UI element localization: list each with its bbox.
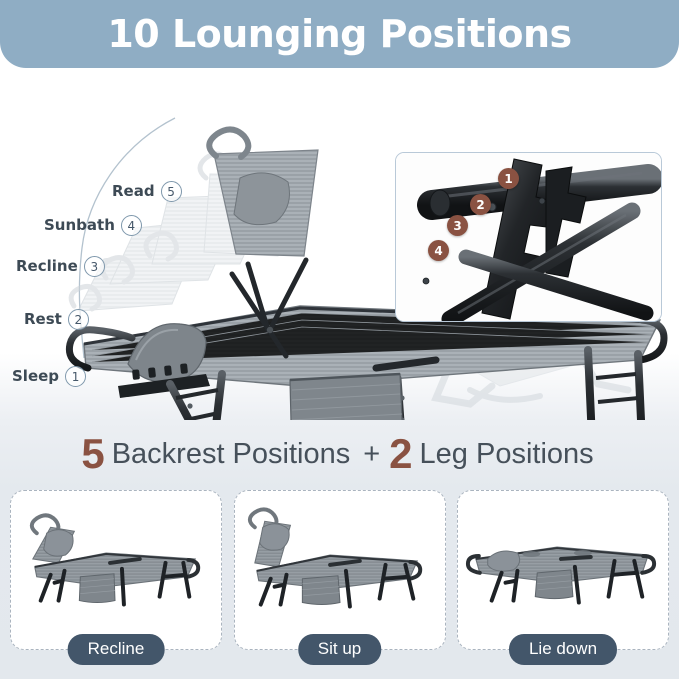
lie-down-illustration xyxy=(458,497,668,612)
sit-up-illustration xyxy=(235,497,445,612)
detail-badge-4: 4 xyxy=(428,240,449,261)
header-banner: 10 Lounging Positions xyxy=(0,0,679,68)
leg-label: Leg Positions xyxy=(420,440,594,469)
position-card-recline[interactable]: Recline xyxy=(10,490,222,650)
position-number-badge: 5 xyxy=(161,181,182,202)
plus-symbol: + xyxy=(363,440,380,469)
positions-summary: 5 Backrest Positions + 2 Leg Positions xyxy=(0,428,679,480)
position-label-text: Read xyxy=(112,184,155,199)
bracket-mechanism-illustration xyxy=(396,153,661,321)
position-label-text: Sunbath xyxy=(44,218,115,233)
page-title: 10 Lounging Positions xyxy=(107,12,571,56)
backrest-label: Backrest Positions xyxy=(112,440,351,469)
position-label-recline: Recline 3 xyxy=(16,256,105,277)
position-label-text: Rest xyxy=(24,312,62,327)
position-label-read: Read 5 xyxy=(112,181,182,202)
bracket-detail-inset: 1 2 3 4 xyxy=(395,152,662,322)
infographic-page: 10 Lounging Positions xyxy=(0,0,679,679)
position-number-badge: 3 xyxy=(84,256,105,277)
detail-badge-3: 3 xyxy=(447,215,468,236)
recline-illustration xyxy=(11,497,221,612)
position-label-text: Recline xyxy=(16,259,78,274)
backrest-count: 5 xyxy=(81,433,104,475)
hero-section: Read 5 Sunbath 4 Recline 3 Rest 2 Sleep … xyxy=(0,68,679,420)
position-label-rest: Rest 2 xyxy=(24,309,89,330)
position-cards: Recline xyxy=(0,490,679,655)
position-number-badge: 2 xyxy=(68,309,89,330)
card-label: Sit up xyxy=(298,634,381,665)
card-label: Recline xyxy=(68,634,165,665)
detail-badge-1: 1 xyxy=(498,168,519,189)
position-number-badge: 4 xyxy=(121,215,142,236)
position-card-lie-down[interactable]: Lie down xyxy=(457,490,669,650)
position-label-text: Sleep xyxy=(12,369,59,384)
detail-badge-2: 2 xyxy=(470,194,491,215)
position-label-sunbath: Sunbath 4 xyxy=(44,215,142,236)
leg-count: 2 xyxy=(389,433,412,475)
position-label-sleep: Sleep 1 xyxy=(12,366,86,387)
card-label: Lie down xyxy=(509,634,617,665)
position-card-sit-up[interactable]: Sit up xyxy=(234,490,446,650)
position-number-badge: 1 xyxy=(65,366,86,387)
